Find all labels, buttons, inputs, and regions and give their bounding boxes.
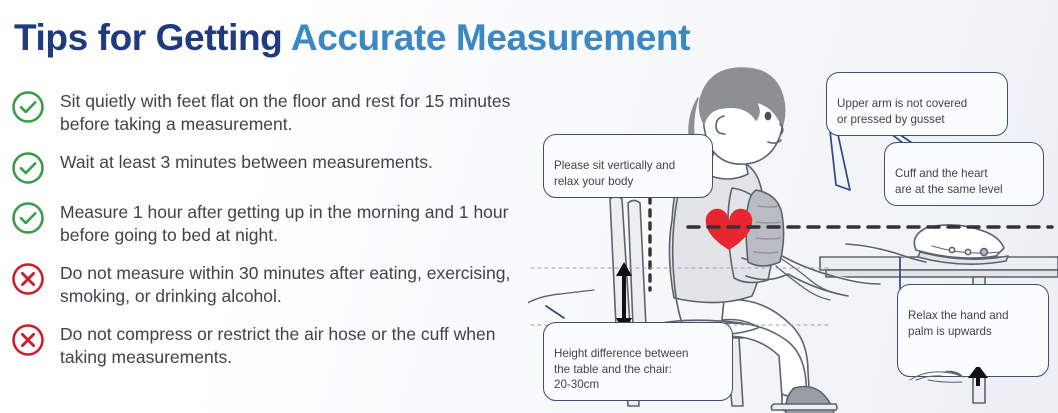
callout-cuff-heart: Cuff and the heart are at the same level bbox=[884, 142, 1044, 206]
callout-sit-vertically-text: Please sit vertically and relax your bod… bbox=[554, 159, 675, 187]
callout-upper-arm-text: Upper arm is not covered or pressed by g… bbox=[837, 97, 967, 125]
open-palm-up-icon bbox=[908, 352, 994, 372]
callout-relax-hand: Relax the hand and palm is upwards bbox=[897, 284, 1049, 377]
check-circle-icon bbox=[10, 200, 46, 236]
list-item: Sit quietly with feet flat on the floor … bbox=[10, 88, 540, 137]
callout-height-difference-text: Height difference between the table and … bbox=[554, 347, 689, 391]
list-item: Wait at least 3 minutes between measurem… bbox=[10, 149, 540, 187]
bp-monitor-shape bbox=[914, 225, 1008, 264]
list-item-label: Measure 1 hour after getting up in the m… bbox=[60, 199, 540, 248]
check-circle-icon bbox=[10, 89, 46, 125]
list-item-label: Wait at least 3 minutes between measurem… bbox=[60, 149, 433, 174]
callout-height-difference: Height difference between the table and … bbox=[543, 322, 733, 401]
tips-list: Sit quietly with feet flat on the floor … bbox=[10, 88, 540, 382]
list-item: Do not measure within 30 minutes after e… bbox=[10, 260, 540, 309]
x-circle-icon bbox=[10, 261, 46, 297]
page-title-primary: Tips for Getting bbox=[14, 17, 291, 58]
list-item-label: Do not measure within 30 minutes after e… bbox=[60, 260, 540, 309]
list-item-label: Do not compress or restrict the air hose… bbox=[60, 321, 540, 370]
callout-relax-hand-text: Relax the hand and palm is upwards bbox=[908, 309, 1009, 337]
callout-upper-arm: Upper arm is not covered or pressed by g… bbox=[826, 72, 1008, 136]
list-item: Measure 1 hour after getting up in the m… bbox=[10, 199, 540, 248]
check-circle-icon bbox=[10, 150, 46, 186]
list-item: Do not compress or restrict the air hose… bbox=[10, 321, 540, 370]
callout-cuff-heart-text: Cuff and the heart are at the same level bbox=[895, 167, 1003, 195]
list-item-label: Sit quietly with feet flat on the floor … bbox=[60, 88, 540, 137]
callout-sit-vertically: Please sit vertically and relax your bod… bbox=[543, 134, 713, 198]
bp-cuff-shape bbox=[746, 190, 838, 300]
x-circle-icon bbox=[10, 322, 46, 358]
